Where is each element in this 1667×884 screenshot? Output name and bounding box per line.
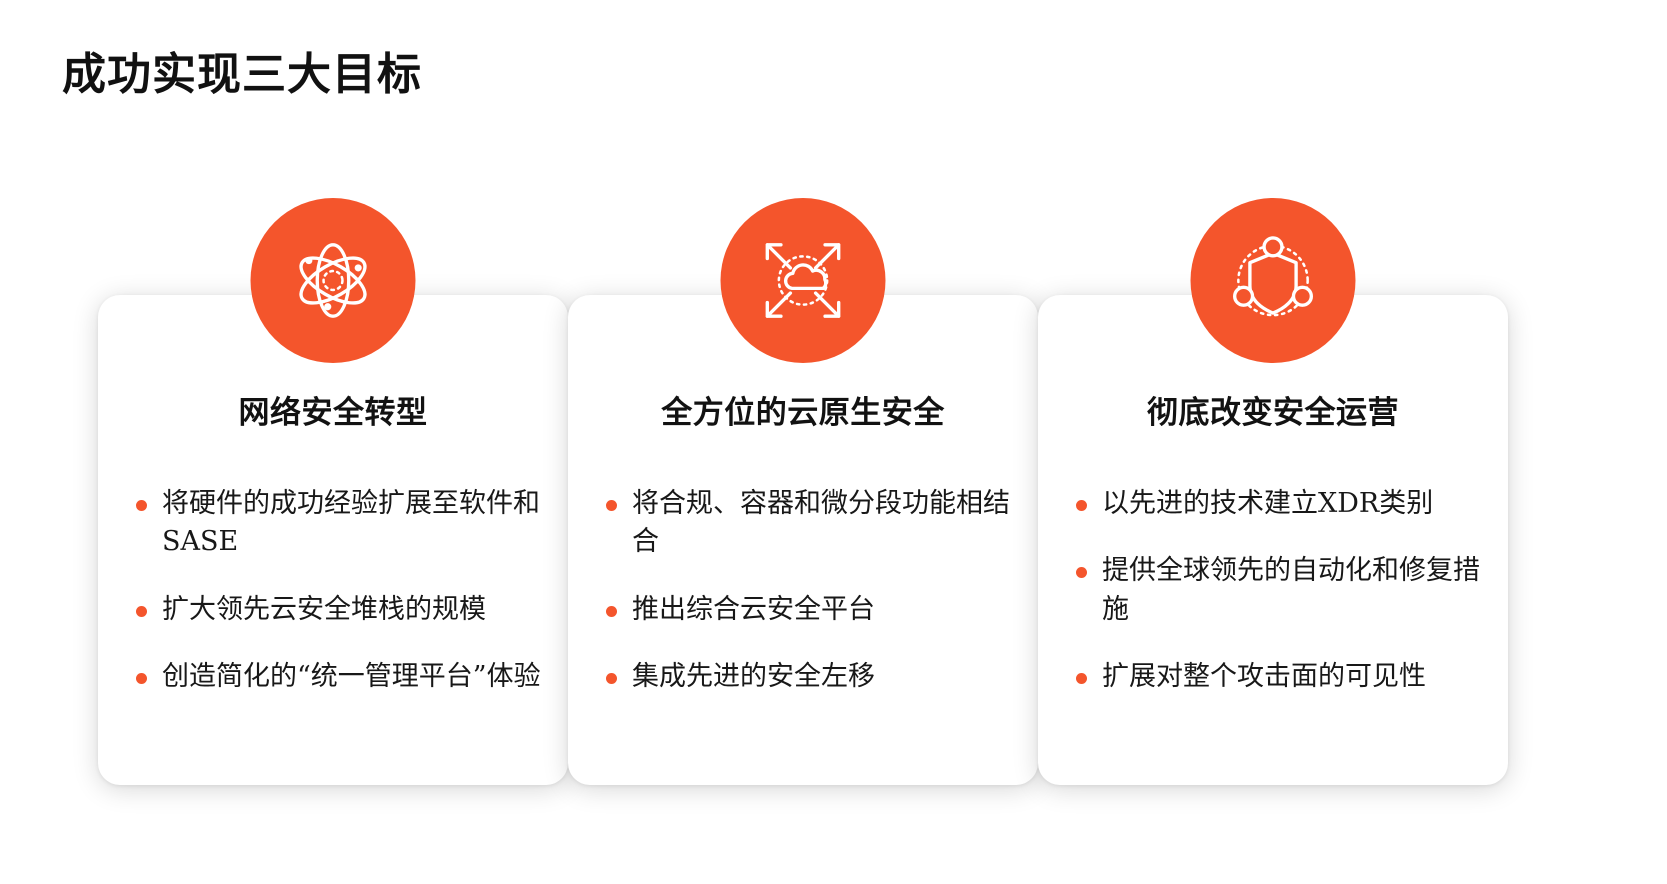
bullet-dot-icon: [136, 500, 147, 511]
bullet-dot-icon: [606, 673, 617, 684]
cards-row: 网络安全转型 将硬件的成功经验扩展至软件和SASE 扩大领先云安全堆栈的规模 创…: [0, 0, 1667, 884]
bullet-text: 以先进的技术建立XDR类别: [1102, 485, 1488, 523]
atom-icon: [251, 198, 416, 363]
card-network-security[interactable]: 网络安全转型 将硬件的成功经验扩展至软件和SASE 扩大领先云安全堆栈的规模 创…: [98, 295, 568, 785]
cloud-expand-icon: [721, 198, 886, 363]
list-item: 扩大领先云安全堆栈的规模: [126, 591, 548, 629]
list-item: 创造简化的“统一管理平台”体验: [126, 658, 548, 696]
card-cloud-native-security[interactable]: 全方位的云原生安全 将合规、容器和微分段功能相结合 推出综合云安全平台 集成先进…: [568, 295, 1038, 785]
bullet-text: 将合规、容器和微分段功能相结合: [632, 485, 1018, 562]
list-item: 扩展对整个攻击面的可见性: [1066, 658, 1488, 696]
bullet-list: 将硬件的成功经验扩展至软件和SASE 扩大领先云安全堆栈的规模 创造简化的“统一…: [126, 485, 548, 696]
bullet-list: 将合规、容器和微分段功能相结合 推出综合云安全平台 集成先进的安全左移: [596, 485, 1018, 696]
card-security-operations[interactable]: 彻底改变安全运营 以先进的技术建立XDR类别 提供全球领先的自动化和修复措施 扩…: [1038, 295, 1508, 785]
bullet-dot-icon: [1076, 500, 1087, 511]
bullet-dot-icon: [1076, 567, 1087, 578]
bullet-dot-icon: [606, 500, 617, 511]
list-item: 将硬件的成功经验扩展至软件和SASE: [126, 485, 548, 562]
card-title: 全方位的云原生安全: [568, 387, 1038, 432]
card-title: 网络安全转型: [98, 387, 568, 432]
list-item: 提供全球领先的自动化和修复措施: [1066, 552, 1488, 629]
bullet-dot-icon: [136, 606, 147, 617]
bullet-text: 扩展对整个攻击面的可见性: [1102, 658, 1488, 696]
list-item: 推出综合云安全平台: [596, 591, 1018, 629]
list-item: 以先进的技术建立XDR类别: [1066, 485, 1488, 523]
bullet-dot-icon: [136, 673, 147, 684]
card-title: 彻底改变安全运营: [1038, 387, 1508, 432]
bullet-dot-icon: [606, 606, 617, 617]
list-item: 集成先进的安全左移: [596, 658, 1018, 696]
bullet-text: 集成先进的安全左移: [632, 658, 1018, 696]
bullet-list: 以先进的技术建立XDR类别 提供全球领先的自动化和修复措施 扩展对整个攻击面的可…: [1066, 485, 1488, 696]
bullet-text: 推出综合云安全平台: [632, 591, 1018, 629]
shield-network-icon: [1191, 198, 1356, 363]
bullet-text: 创造简化的“统一管理平台”体验: [162, 658, 548, 696]
slide-root: 成功实现三大目标 网络安全转型 将硬件的成功经验扩展至软件和SAS: [0, 0, 1667, 884]
bullet-text: 将硬件的成功经验扩展至软件和SASE: [162, 485, 548, 562]
list-item: 将合规、容器和微分段功能相结合: [596, 485, 1018, 562]
bullet-text: 提供全球领先的自动化和修复措施: [1102, 552, 1488, 629]
bullet-dot-icon: [1076, 673, 1087, 684]
bullet-text: 扩大领先云安全堆栈的规模: [162, 591, 548, 629]
